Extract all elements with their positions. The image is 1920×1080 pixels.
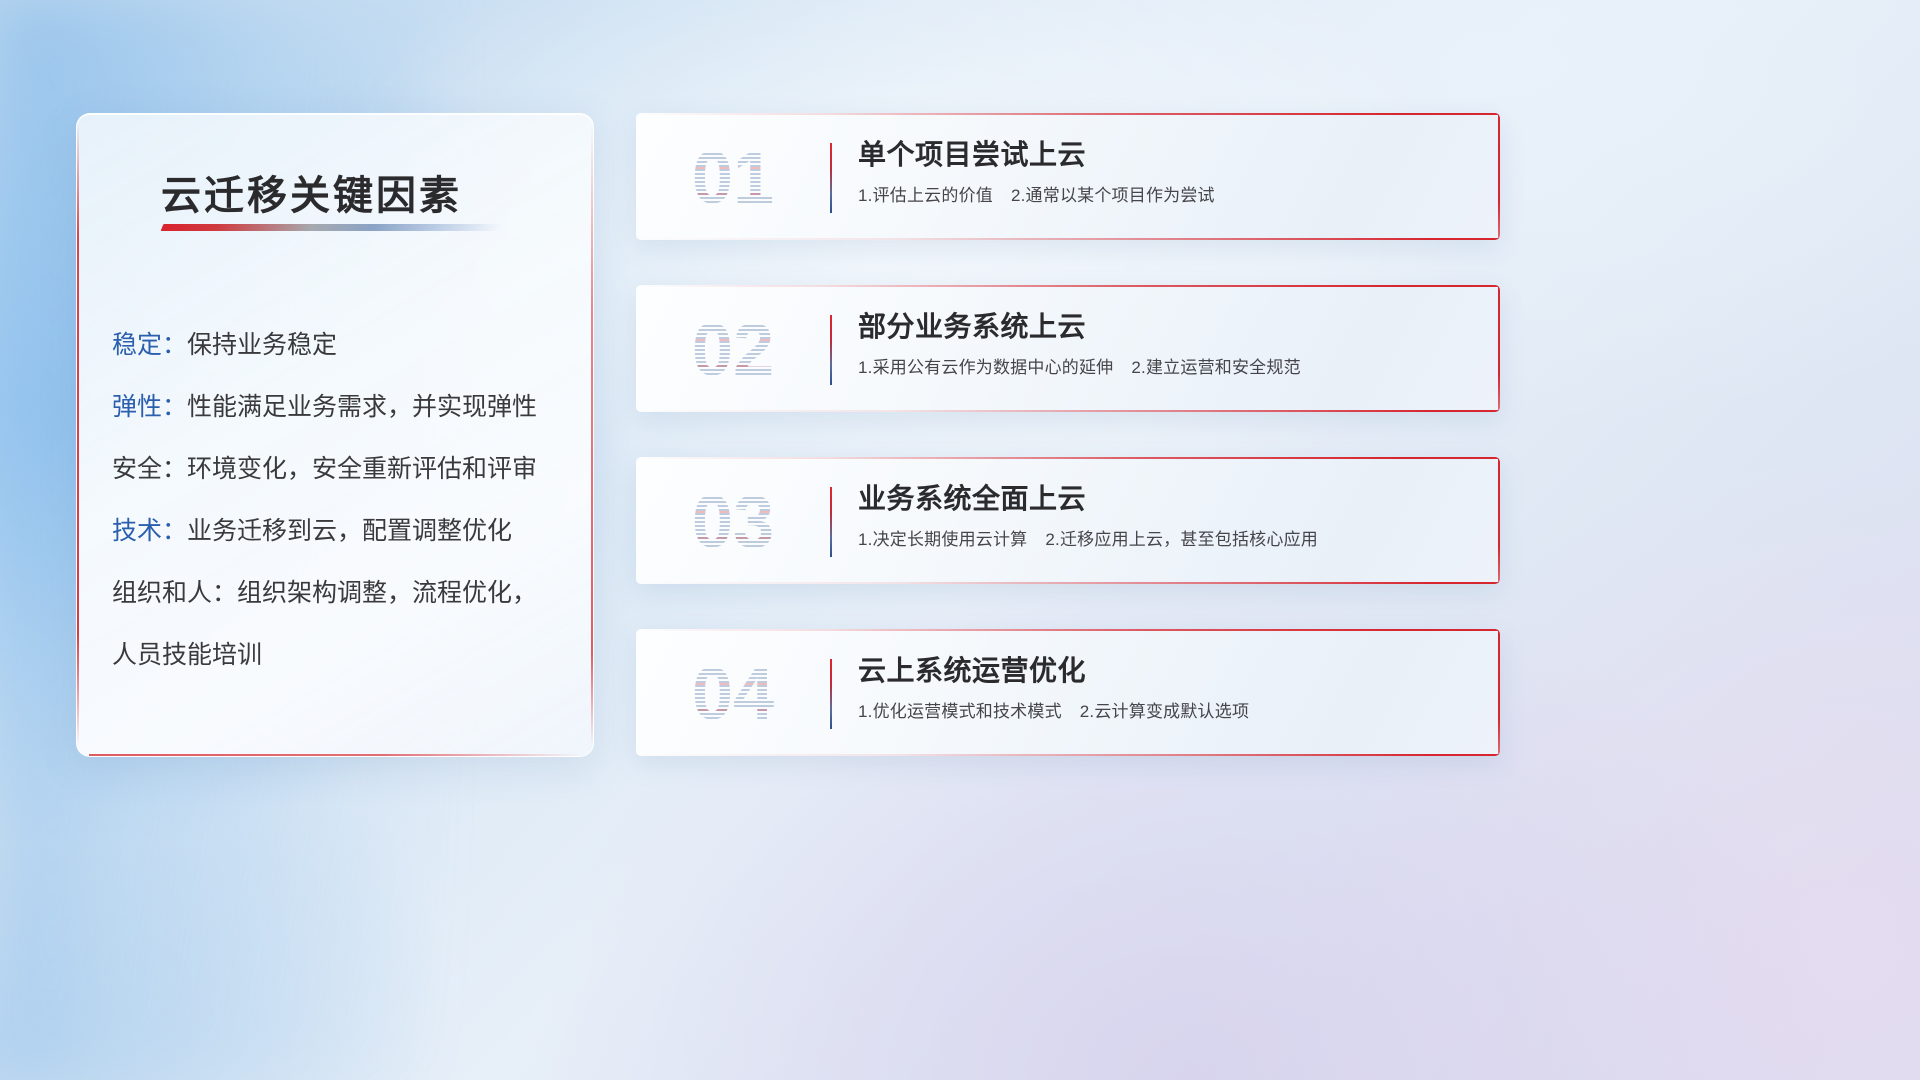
step-description-part-2: 2.云计算变成默认选项	[1080, 702, 1249, 721]
step-description-part-2: 2.迁移应用上云，甚至包括核心应用	[1045, 530, 1318, 549]
factor-label: 组织和人：	[112, 579, 237, 607]
card-top-accent	[636, 629, 1500, 631]
card-bottom-accent	[636, 238, 1500, 240]
step-accent-bar	[830, 659, 832, 729]
step-accent-bar	[830, 315, 832, 385]
step-description: 1.采用公有云作为数据中心的延伸2.建立运营和安全规范	[858, 355, 1486, 381]
step-description: 1.优化运营模式和技术模式2.云计算变成默认选项	[858, 699, 1486, 725]
list-item: 稳定：保持业务稳定	[112, 314, 582, 376]
step-card-02[interactable]: 02 02 部分业务系统上云 1.采用公有云作为数据中心的延伸2.建立运营和安全…	[636, 285, 1500, 412]
card-top-accent	[636, 457, 1500, 459]
list-item: 组织和人：组织架构调整，流程优化，	[112, 562, 582, 624]
step-card-list: 01 01 单个项目尝试上云 1.评估上云的价值2.通常以某个项目作为尝试 02…	[636, 113, 1500, 801]
step-number-glyph-red: 01	[658, 133, 808, 223]
step-card-03[interactable]: 03 03 业务系统全面上云 1.决定长期使用云计算2.迁移应用上云，甚至包括核…	[636, 457, 1500, 584]
card-right-accent	[1498, 285, 1500, 412]
card-bottom-accent	[636, 754, 1500, 756]
step-body: 单个项目尝试上云 1.评估上云的价值2.通常以某个项目作为尝试	[858, 135, 1486, 209]
step-description-part-1: 1.采用公有云作为数据中心的延伸	[858, 358, 1113, 377]
step-description-part-2: 2.建立运营和安全规范	[1131, 358, 1300, 377]
factor-text: 组织架构调整，流程优化，	[237, 579, 537, 607]
card-right-accent	[1498, 629, 1500, 756]
step-description: 1.评估上云的价值2.通常以某个项目作为尝试	[858, 183, 1486, 209]
page-title: 云迁移关键因素	[161, 163, 462, 221]
card-right-accent	[1498, 113, 1500, 240]
factor-label: 安全：	[112, 455, 187, 483]
step-title: 云上系统运营优化	[858, 651, 1486, 691]
card-bottom-accent	[636, 410, 1500, 412]
step-number-02: 02 02	[658, 305, 808, 395]
list-item-continuation: 人员技能培训	[112, 624, 582, 686]
card-top-accent	[636, 285, 1500, 287]
step-description-part-1: 1.决定长期使用云计算	[858, 530, 1027, 549]
factor-label: 技术：	[112, 517, 187, 545]
panel-bottom-edge	[89, 754, 581, 756]
step-number-03: 03 03	[658, 477, 808, 567]
list-item: 安全：环境变化，安全重新评估和评审	[112, 438, 582, 500]
key-factors-panel: 云迁移关键因素 稳定：保持业务稳定 弹性：性能满足业务需求，并实现弹性 安全：环…	[76, 113, 594, 757]
step-number-glyph-red: 04	[658, 649, 808, 739]
title-underline-gradient	[161, 224, 504, 231]
card-top-accent	[636, 113, 1500, 115]
factor-label: 稳定：	[112, 331, 187, 359]
step-title: 业务系统全面上云	[858, 479, 1486, 519]
factor-label: 弹性：	[112, 393, 187, 421]
factor-text: 业务迁移到云，配置调整优化	[187, 517, 512, 545]
step-card-01[interactable]: 01 01 单个项目尝试上云 1.评估上云的价值2.通常以某个项目作为尝试	[636, 113, 1500, 240]
step-description: 1.决定长期使用云计算2.迁移应用上云，甚至包括核心应用	[858, 527, 1486, 553]
card-bottom-accent	[636, 582, 1500, 584]
step-body: 业务系统全面上云 1.决定长期使用云计算2.迁移应用上云，甚至包括核心应用	[858, 479, 1486, 553]
step-description-part-1: 1.优化运营模式和技术模式	[858, 702, 1062, 721]
step-description-part-2: 2.通常以某个项目作为尝试	[1011, 186, 1215, 205]
step-number-01: 01 01	[658, 133, 808, 223]
card-right-accent	[1498, 457, 1500, 584]
factor-text: 人员技能培训	[112, 641, 262, 669]
list-item: 技术：业务迁移到云，配置调整优化	[112, 500, 582, 562]
step-title: 部分业务系统上云	[858, 307, 1486, 347]
step-number-glyph-red: 03	[658, 477, 808, 567]
factor-text: 环境变化，安全重新评估和评审	[187, 455, 537, 483]
step-description-part-1: 1.评估上云的价值	[858, 186, 993, 205]
step-title: 单个项目尝试上云	[858, 135, 1486, 175]
step-body: 部分业务系统上云 1.采用公有云作为数据中心的延伸2.建立运营和安全规范	[858, 307, 1486, 381]
step-accent-bar	[830, 143, 832, 213]
step-number-glyph-red: 02	[658, 305, 808, 395]
step-number-04: 04 04	[658, 649, 808, 739]
step-card-04[interactable]: 04 04 云上系统运营优化 1.优化运营模式和技术模式2.云计算变成默认选项	[636, 629, 1500, 756]
factor-text: 性能满足业务需求，并实现弹性	[187, 393, 537, 421]
list-item: 弹性：性能满足业务需求，并实现弹性	[112, 376, 582, 438]
step-body: 云上系统运营优化 1.优化运营模式和技术模式2.云计算变成默认选项	[858, 651, 1486, 725]
step-accent-bar	[830, 487, 832, 557]
panel-right-edge	[591, 124, 593, 746]
factor-list: 稳定：保持业务稳定 弹性：性能满足业务需求，并实现弹性 安全：环境变化，安全重新…	[112, 314, 582, 686]
factor-text: 保持业务稳定	[187, 331, 337, 359]
